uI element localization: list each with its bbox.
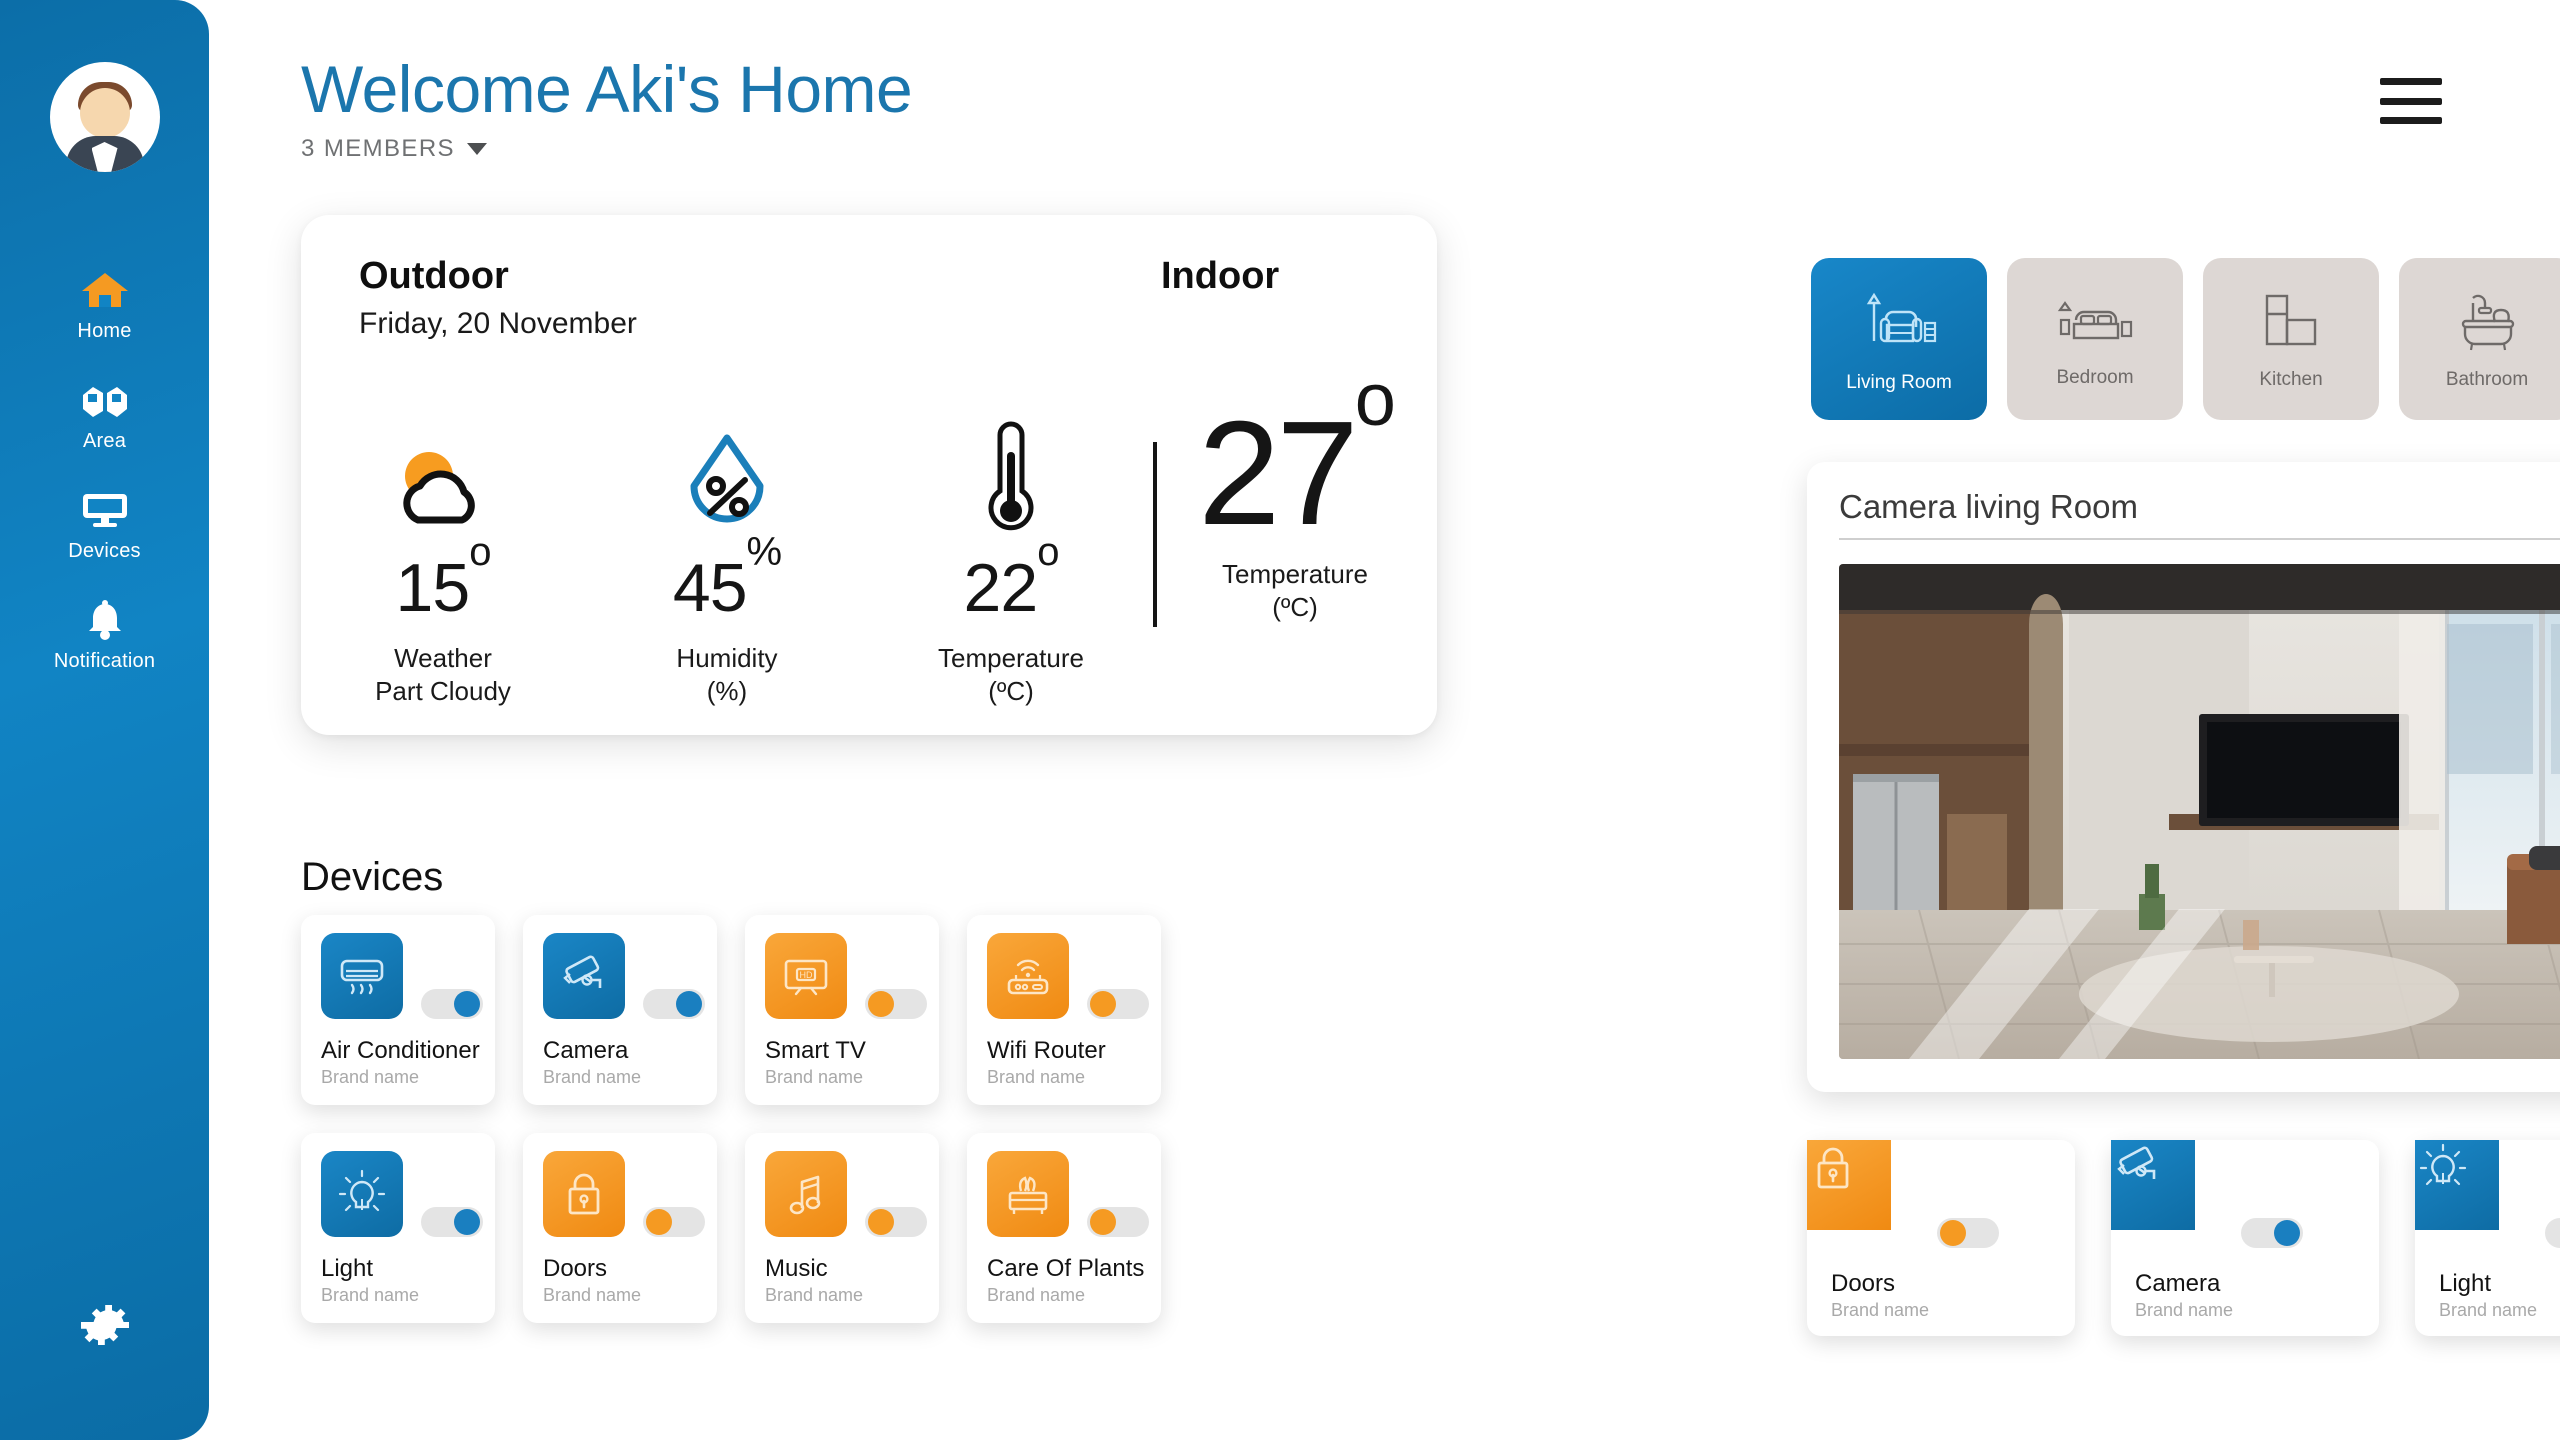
home-icon — [78, 269, 132, 311]
sidebar-item-home[interactable]: Home — [0, 250, 209, 360]
toggle-knob — [868, 991, 894, 1017]
device-card-camera[interactable]: Camera Brand name — [523, 915, 717, 1105]
toggle-knob — [1090, 1209, 1116, 1235]
bell-icon — [78, 599, 132, 641]
room-tab-label: Living Room — [1846, 372, 1952, 394]
device-card-care-of-plants[interactable]: Care Of Plants Brand name — [967, 1133, 1161, 1323]
bathtub-icon — [2443, 288, 2531, 359]
sidebar-item-label: Home — [77, 320, 131, 343]
weather-card: Outdoor Friday, 20 November Indoor 15o W… — [301, 215, 1437, 735]
members-dropdown[interactable]: 3 MEMBERS — [301, 135, 912, 163]
weather-date: Friday, 20 November — [359, 307, 637, 341]
device-toggle[interactable] — [1937, 1218, 1999, 1248]
avatar-head — [80, 88, 130, 138]
camera-panel: Camera living Room — [1807, 462, 2560, 1092]
sidebar-item-label: Area — [83, 430, 126, 453]
padlock-icon — [543, 1151, 625, 1237]
music-note-icon — [765, 1151, 847, 1237]
device-toggle[interactable] — [2545, 1218, 2560, 1248]
living-room-camera-feed[interactable] — [1839, 564, 2560, 1059]
settings-button[interactable] — [0, 1295, 209, 1360]
device-brand: Brand name — [1831, 1300, 1929, 1321]
device-card-doors[interactable]: Doors Brand name — [523, 1133, 717, 1323]
sidebar-item-area[interactable]: Area — [0, 360, 209, 470]
device-name: Music — [765, 1255, 828, 1283]
members-count-label: 3 MEMBERS — [301, 135, 455, 163]
room-tabs: Living Room Bedroom Kitchen Bathroom — [1811, 258, 2560, 420]
device-toggle[interactable] — [865, 989, 927, 1019]
indoor-header: Indoor — [1161, 255, 1279, 298]
device-brand: Brand name — [765, 1067, 863, 1088]
device-brand: Brand name — [2135, 1300, 2233, 1321]
thermometer-icon — [980, 410, 1042, 538]
weather-metric-weather: 15o Weather Part Cloudy — [301, 410, 585, 709]
device-toggle[interactable] — [2241, 1218, 2303, 1248]
humidity-value: 45% — [673, 554, 781, 622]
device-toggle[interactable] — [421, 989, 483, 1019]
device-name: Wifi Router — [987, 1037, 1106, 1065]
room-tab-label: Kitchen — [2259, 369, 2322, 391]
gear-icon — [75, 1295, 135, 1360]
weather-metric-label: Weather Part Cloudy — [375, 642, 511, 709]
device-name: Light — [321, 1255, 373, 1283]
chevron-down-icon — [467, 143, 487, 155]
device-name: Camera — [2135, 1270, 2220, 1298]
room-tab-living-room[interactable]: Living Room — [1811, 258, 1987, 420]
room-tab-bathroom[interactable]: Bathroom — [2399, 258, 2560, 420]
indoor-temperature-block: 27o Temperature (ºC) — [1153, 410, 1437, 709]
outdoor-title: Outdoor — [359, 255, 637, 298]
humidity-icon — [678, 410, 776, 538]
device-name: Air Conditioner — [321, 1037, 480, 1065]
device-toggle[interactable] — [643, 989, 705, 1019]
device-card-wifi-router[interactable]: Wifi Router Brand name — [967, 915, 1161, 1105]
camera-panel-title: Camera living Room — [1839, 488, 2138, 526]
device-toggle[interactable] — [1087, 989, 1149, 1019]
lightbulb-icon — [2415, 1140, 2499, 1230]
device-card-light[interactable]: Light Brand name — [301, 1133, 495, 1323]
sidebar-item-devices[interactable]: Devices — [0, 470, 209, 580]
sidebar-item-notification[interactable]: Notification — [0, 580, 209, 690]
hamburger-icon[interactable] — [2380, 78, 2442, 124]
room-tab-kitchen[interactable]: Kitchen — [2203, 258, 2379, 420]
sidebar-nav: Home Area Devices Notification — [0, 250, 209, 690]
device-brand: Brand name — [543, 1067, 641, 1088]
sidebar-item-label: Notification — [54, 650, 155, 673]
device-brand: Brand name — [321, 1067, 419, 1088]
device-name: Doors — [543, 1255, 607, 1283]
television-hd-icon: HD — [765, 933, 847, 1019]
toggle-knob — [676, 991, 702, 1017]
device-name: Light — [2439, 1270, 2491, 1298]
vertical-divider — [1153, 442, 1157, 627]
device-toggle[interactable] — [643, 1207, 705, 1237]
indoor-temperature-label: Temperature (ºC) — [1222, 558, 1368, 625]
sidebar-item-label: Devices — [68, 540, 141, 563]
room-device-card-light[interactable]: Light Brand name — [2415, 1140, 2560, 1336]
toggle-knob — [646, 1209, 672, 1235]
device-card-smart-tv[interactable]: HD Smart TV Brand name — [745, 915, 939, 1105]
bed-icon — [2050, 290, 2140, 357]
area-icon — [78, 379, 132, 421]
weather-metrics: 15o Weather Part Cloudy 45% — [301, 410, 1437, 709]
device-name: Care Of Plants — [987, 1255, 1144, 1283]
room-tab-label: Bathroom — [2446, 369, 2528, 391]
lightbulb-icon — [321, 1151, 403, 1237]
device-brand: Brand name — [987, 1285, 1085, 1306]
svg-text:HD: HD — [800, 970, 813, 980]
device-card-music[interactable]: Music Brand name — [745, 1133, 939, 1323]
device-name: Camera — [543, 1037, 628, 1065]
toggle-knob — [454, 1209, 480, 1235]
device-toggle[interactable] — [421, 1207, 483, 1237]
sun-cloud-icon — [385, 410, 501, 538]
devices-heading: Devices — [301, 855, 443, 900]
sofa-icon — [1857, 285, 1941, 362]
device-brand: Brand name — [543, 1285, 641, 1306]
hamburger-bar — [2380, 98, 2442, 105]
page-title: Welcome Aki's Home — [301, 55, 912, 125]
temperature-label: Temperature (ºC) — [938, 642, 1084, 709]
device-brand: Brand name — [987, 1067, 1085, 1088]
device-brand: Brand name — [765, 1285, 863, 1306]
device-card-air-conditioner[interactable]: Air Conditioner Brand name — [301, 915, 495, 1105]
toggle-knob — [1090, 991, 1116, 1017]
toggle-knob — [868, 1209, 894, 1235]
cctv-camera-icon — [543, 933, 625, 1019]
room-tab-bedroom[interactable]: Bedroom — [2007, 258, 2183, 420]
device-toggle[interactable] — [865, 1207, 927, 1237]
toggle-knob — [2274, 1220, 2300, 1246]
main-content: Welcome Aki's Home 3 MEMBERS Outdoor Fri… — [209, 0, 2560, 1440]
outdoor-header: Outdoor Friday, 20 November — [359, 255, 637, 341]
device-name: Doors — [1831, 1270, 1895, 1298]
weather-value: 15o — [396, 554, 491, 622]
toggle-knob — [1940, 1220, 1966, 1246]
room-tab-label: Bedroom — [2056, 367, 2133, 389]
avatar[interactable] — [50, 62, 160, 172]
monitor-icon — [78, 489, 132, 531]
wifi-router-icon — [987, 933, 1069, 1019]
weather-metric-temperature: 22o Temperature (ºC) — [869, 410, 1153, 709]
padlock-icon — [1807, 1140, 1891, 1230]
indoor-temperature-value: 27o — [1198, 400, 1392, 548]
room-devices: Doors Brand name Camera Brand name Light… — [1807, 1140, 2560, 1336]
devices-grid: Air Conditioner Brand name Camera Brand … — [301, 915, 1161, 1323]
device-name: Smart TV — [765, 1037, 866, 1065]
device-brand: Brand name — [321, 1285, 419, 1306]
kitchen-icon — [2251, 288, 2331, 359]
device-brand: Brand name — [2439, 1300, 2537, 1321]
temperature-value: 22o — [964, 554, 1059, 622]
plant-box-icon — [987, 1151, 1069, 1237]
hamburger-bar — [2380, 117, 2442, 124]
sidebar: Home Area Devices Notification — [0, 0, 209, 1440]
toggle-knob — [454, 991, 480, 1017]
cctv-camera-icon — [2111, 1140, 2195, 1230]
page-header: Welcome Aki's Home 3 MEMBERS — [301, 55, 912, 163]
room-device-card-doors[interactable]: Doors Brand name — [1807, 1140, 2075, 1336]
weather-metric-humidity: 45% Humidity (%) — [585, 410, 869, 709]
air-conditioner-icon — [321, 933, 403, 1019]
divider — [1839, 538, 2560, 540]
hamburger-bar — [2380, 78, 2442, 85]
indoor-title: Indoor — [1161, 255, 1279, 298]
room-device-card-camera[interactable]: Camera Brand name — [2111, 1140, 2379, 1336]
humidity-label: Humidity (%) — [676, 642, 777, 709]
device-toggle[interactable] — [1087, 1207, 1149, 1237]
